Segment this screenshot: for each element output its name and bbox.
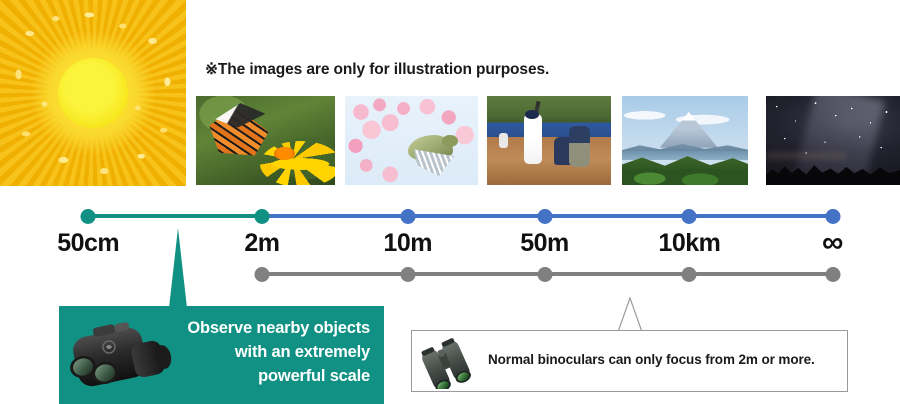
axis-label-50m: 50m [520,229,569,258]
axis-label-∞: ∞ [822,226,843,260]
gray-axis-dot-2[interactable] [537,267,552,282]
teal-line-3: powerful scale [162,365,370,389]
axis-label-10m: 10m [383,229,432,258]
close-focus-callout: Observe nearby objects with an extremely… [59,306,384,404]
roof-prism-binoculars-icon [418,337,482,389]
thumb-baseball-game [487,96,611,185]
normal-binoculars-callout-text: Normal binoculars can only focus from 2m… [488,352,815,367]
thumb1-flower-center [274,147,295,160]
teal-line-1: Observe nearby objects [162,317,370,341]
normal-binoculars-callout: Normal binoculars can only focus from 2m… [411,330,848,392]
thumb-mount-fuji [622,96,748,185]
thumb2-blossoms [345,96,478,185]
thumb3-umpire [569,126,590,167]
close-focus-segment [88,214,262,218]
close-focus-callout-text: Observe nearby objects with an extremely… [162,317,370,389]
thumb3-batter [524,114,541,164]
thumb5-horizon-glow [766,153,846,162]
axis-dot-∞[interactable] [825,209,840,224]
hero-flower-core [58,58,129,129]
teal-callout-pointer [163,228,193,308]
axis-dot-50cm[interactable] [81,209,96,224]
thumb-bird-in-cherry-blossoms [345,96,478,185]
focus-range-axis [0,214,900,218]
normal-binocular-axis [0,272,900,276]
thumb2-bird-head [442,135,458,147]
thumb3-fielder [499,133,508,147]
infographic-root: ※The images are only for illustration pu… [0,0,900,404]
gray-axis-dot-0[interactable] [254,267,269,282]
gray-axis-dot-1[interactable] [400,267,415,282]
illustration-disclaimer: ※The images are only for illustration pu… [205,60,549,79]
thumb1-flower [260,141,335,186]
thumb3-infield-dirt [487,158,611,185]
hero-flower-macro [0,0,186,186]
gray-axis-dot-3[interactable] [682,267,697,282]
thumb-night-sky [766,96,900,185]
axis-label-50cm: 50cm [57,229,119,258]
axis-dot-10m[interactable] [400,209,415,224]
axis-label-2m: 2m [244,229,279,258]
thumb4-foreground-green [622,169,748,185]
thumb-butterfly-on-flower [196,96,335,185]
axis-dot-2m[interactable] [254,209,269,224]
teal-line-2: with an extremely [162,341,370,365]
axis-dot-10km[interactable] [682,209,697,224]
white-callout-pointer [600,292,660,332]
gray-axis-dot-4[interactable] [825,267,840,282]
axis-dot-50m[interactable] [537,209,552,224]
axis-label-10km: 10km [658,229,720,258]
